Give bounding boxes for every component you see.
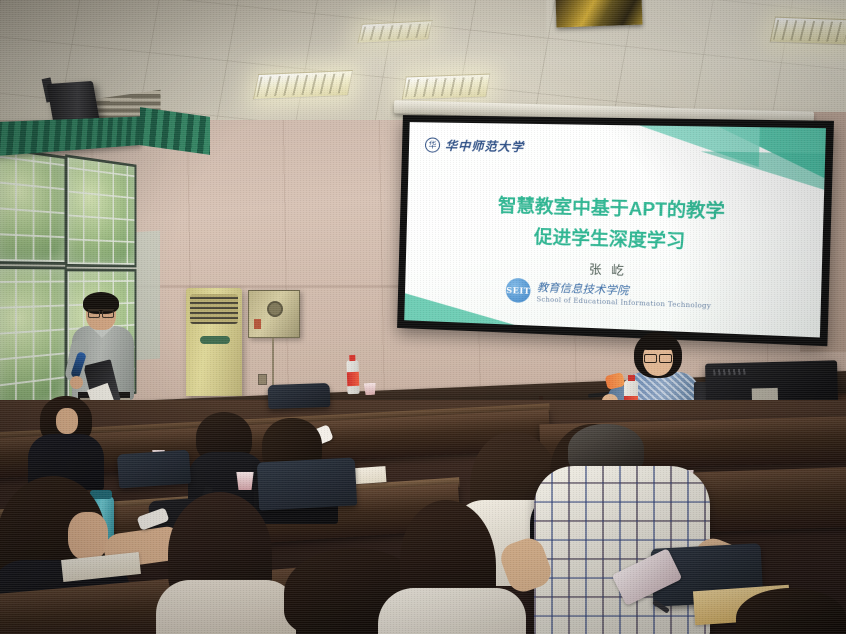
wall-outlet-icon [258,374,267,385]
paper-cup [364,383,376,395]
university-seal-icon: 华 [425,137,440,152]
water-bottle [346,360,359,394]
attendee-torso [378,588,526,634]
window-pane [0,146,67,265]
slide-title-line2: 促进学生深度学习 [406,218,823,261]
projection-screen: 华 华中师范大学 智慧教室中基于APT的教学 促进学生深度学习 张 屹 SEIT… [397,115,834,346]
control-dial-icon[interactable] [267,301,283,317]
ceiling-light-icon [402,74,491,101]
ceiling-light-icon [770,17,846,46]
attendee-face [56,408,78,434]
wall-artwork [556,0,643,27]
bottle-label [347,372,359,386]
seit-logo-icon: SEIT [506,278,531,303]
bottle-cap [628,375,635,381]
seated-presenter-fringe [640,336,676,350]
bottle-cap [349,355,355,361]
monitor-brand-text [713,369,747,376]
window-pane [65,154,136,267]
slide-title-line1: 智慧教室中基于APT的教学 [498,195,725,221]
chair [117,450,191,489]
attendee-face [68,512,108,560]
wall-cable [272,338,274,386]
presenter-hand [70,376,83,389]
glasses-icon [644,354,672,361]
glasses-icon [88,309,114,315]
air-conditioner [186,288,242,396]
wall-control-box [248,290,300,338]
presentation-slide: 华 华中师范大学 智慧教室中基于APT的教学 促进学生深度学习 张 屹 SEIT… [404,122,826,337]
chair [268,383,331,409]
lecture-hall-photo: 华 华中师范大学 智慧教室中基于APT的教学 促进学生深度学习 张 屹 SEIT… [0,0,846,634]
ac-grille-icon [190,294,238,324]
ceiling-light-icon [357,20,433,44]
university-logo: 华 华中师范大学 [425,136,525,155]
ac-badge [200,336,230,344]
attendee-torso [156,580,296,634]
ceiling-light-icon [253,70,353,100]
slide-title: 智慧教室中基于APT的教学 促进学生深度学习 [406,188,824,261]
window-pane [0,266,67,416]
indicator-light-icon [254,319,261,329]
chair [257,457,357,510]
paper-cup [236,472,254,490]
slide-decor-triangle [700,151,826,191]
university-logo-text: 华中师范大学 [445,137,525,156]
